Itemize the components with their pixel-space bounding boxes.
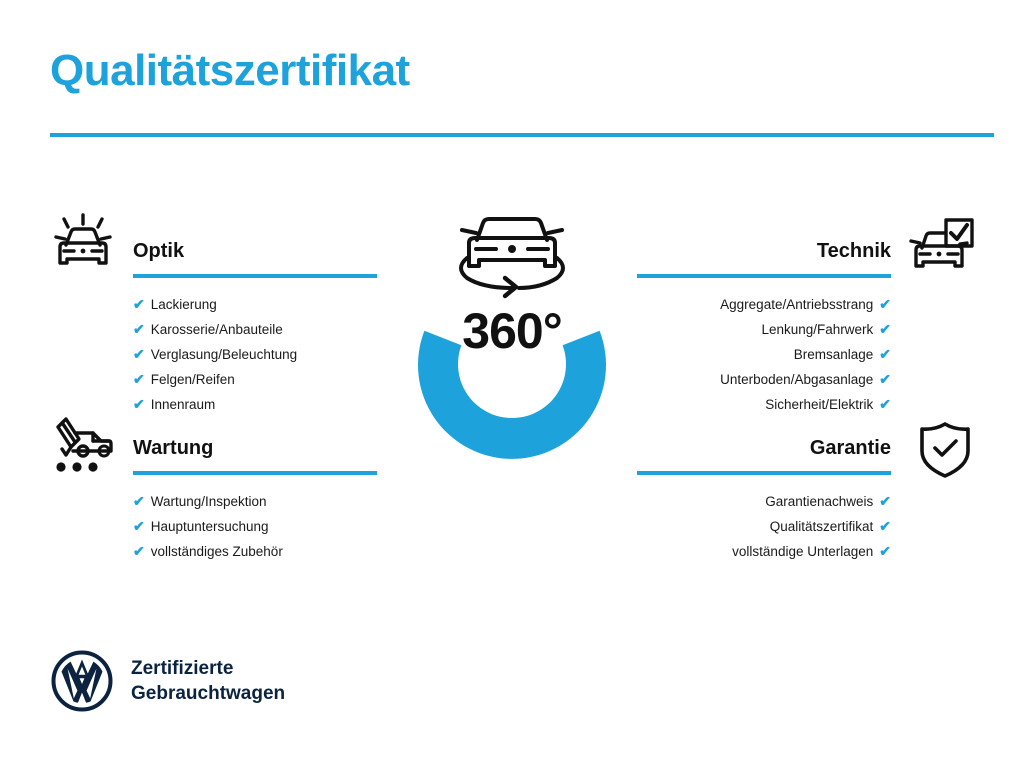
checklist-wartung: ✔Wartung/Inspektion ✔Hauptuntersuchung ✔…: [133, 489, 377, 564]
list-item: Sicherheit/Elektrik✔: [637, 392, 891, 417]
car-checkbox-icon: [909, 218, 975, 278]
check-icon: ✔: [879, 493, 891, 509]
badge-value: 360°: [373, 302, 651, 360]
section-header: Technik: [637, 238, 891, 278]
shield-check-icon: [919, 421, 971, 479]
section-divider: [133, 274, 377, 278]
page-title: Qualitätszertifikat: [50, 47, 410, 95]
service-record-pen-car-icon: [49, 415, 117, 477]
list-item-label: Aggregate/Antriebsstrang: [720, 297, 873, 312]
footer-line-2: Gebrauchtwagen: [131, 681, 285, 706]
list-item: Aggregate/Antriebsstrang✔: [637, 292, 891, 317]
list-item: vollständige Unterlagen✔: [637, 539, 891, 564]
check-icon: ✔: [879, 346, 891, 362]
list-item-label: Lenkung/Fahrwerk: [761, 322, 873, 337]
check-icon: ✔: [133, 371, 145, 387]
list-item-label: Verglasung/Beleuchtung: [151, 347, 297, 362]
list-item: ✔vollständiges Zubehör: [133, 539, 377, 564]
check-icon: ✔: [879, 396, 891, 412]
section-optik: Optik ✔Lackierung ✔Karosserie/Anbauteile…: [133, 238, 377, 417]
car-shine-icon: [49, 213, 117, 277]
check-icon: ✔: [133, 543, 145, 559]
section-header: Optik: [133, 238, 377, 278]
section-divider: [637, 471, 891, 475]
list-item-label: Karosserie/Anbauteile: [151, 322, 283, 337]
list-item-label: Innenraum: [151, 397, 216, 412]
section-header: Wartung: [133, 435, 377, 475]
checklist-garantie: Garantienachweis✔ Qualitätszertifikat✔ v…: [637, 489, 891, 564]
list-item-label: vollständiges Zubehör: [151, 544, 283, 559]
list-item-label: Sicherheit/Elektrik: [765, 397, 873, 412]
list-item-label: Bremsanlage: [794, 347, 874, 362]
section-title-garantie: Garantie: [637, 435, 891, 461]
list-item-label: Garantienachweis: [765, 494, 873, 509]
list-item: Unterboden/Abgasanlage✔: [637, 367, 891, 392]
volkswagen-logo-icon: [51, 650, 113, 712]
list-item-label: vollständige Unterlagen: [732, 544, 873, 559]
list-item: ✔Hauptuntersuchung: [133, 514, 377, 539]
list-item-label: Hauptuntersuchung: [151, 519, 269, 534]
list-item: Lenkung/Fahrwerk✔: [637, 317, 891, 342]
list-item-label: Unterboden/Abgasanlage: [720, 372, 873, 387]
list-item: ✔Wartung/Inspektion: [133, 489, 377, 514]
footer-wordmark: Zertifizierte Gebrauchtwagen: [131, 656, 285, 706]
section-title-optik: Optik: [133, 238, 377, 264]
list-item-label: Felgen/Reifen: [151, 372, 235, 387]
title-divider: [50, 133, 994, 137]
list-item: Garantienachweis✔: [637, 489, 891, 514]
check-icon: ✔: [133, 321, 145, 337]
list-item-label: Lackierung: [151, 297, 217, 312]
list-item: ✔Karosserie/Anbauteile: [133, 317, 377, 342]
section-divider: [133, 471, 377, 475]
section-divider: [637, 274, 891, 278]
footer-line-1: Zertifizierte: [131, 656, 285, 681]
section-garantie: Garantie Garantienachweis✔ Qualitätszert…: [637, 435, 891, 564]
list-item: ✔Innenraum: [133, 392, 377, 417]
check-icon: ✔: [133, 518, 145, 534]
section-title-wartung: Wartung: [133, 435, 377, 461]
footer-brand: Zertifizierte Gebrauchtwagen: [51, 650, 285, 712]
check-icon: ✔: [133, 346, 145, 362]
check-icon: ✔: [879, 296, 891, 312]
list-item: ✔Verglasung/Beleuchtung: [133, 342, 377, 367]
checklist-technik: Aggregate/Antriebsstrang✔ Lenkung/Fahrwe…: [637, 292, 891, 417]
section-technik: Technik Aggregate/Antriebsstrang✔ Lenkun…: [637, 238, 891, 417]
list-item: Bremsanlage✔: [637, 342, 891, 367]
list-item: ✔Lackierung: [133, 292, 377, 317]
check-icon: ✔: [133, 296, 145, 312]
car-rotate-icon: [461, 219, 563, 296]
list-item: Qualitätszertifikat✔: [637, 514, 891, 539]
section-wartung: Wartung ✔Wartung/Inspektion ✔Hauptunters…: [133, 435, 377, 564]
check-icon: ✔: [133, 493, 145, 509]
section-header: Garantie: [637, 435, 891, 475]
checklist-optik: ✔Lackierung ✔Karosserie/Anbauteile ✔Verg…: [133, 292, 377, 417]
list-item-label: Qualitätszertifikat: [770, 519, 874, 534]
list-item-label: Wartung/Inspektion: [151, 494, 267, 509]
check-icon: ✔: [879, 321, 891, 337]
check-icon: ✔: [879, 518, 891, 534]
badge-360-check: Gebrauchtwagen-Check 360°: [373, 198, 651, 488]
section-title-technik: Technik: [637, 238, 891, 264]
check-icon: ✔: [879, 371, 891, 387]
list-item: ✔Felgen/Reifen: [133, 367, 377, 392]
check-icon: ✔: [879, 543, 891, 559]
check-icon: ✔: [133, 396, 145, 412]
